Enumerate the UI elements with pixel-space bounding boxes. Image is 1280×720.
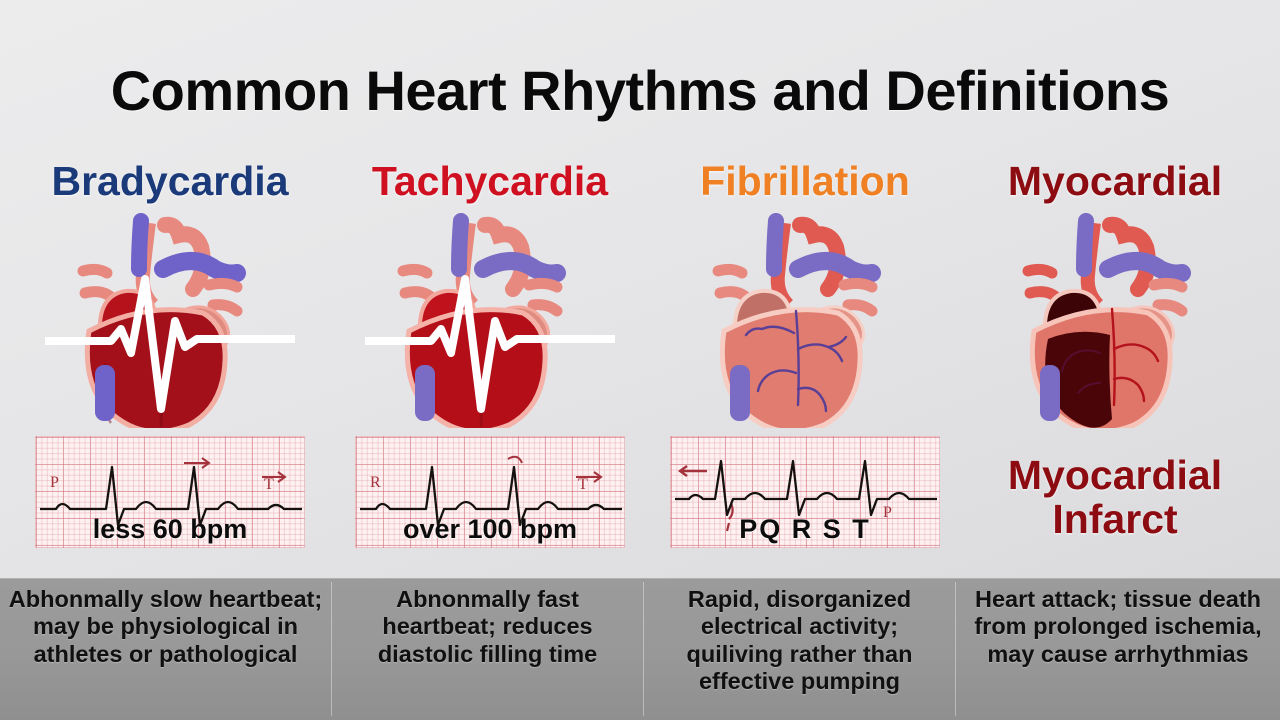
ecg-caption-tachycardia: over 100 bpm: [356, 514, 624, 545]
mi-label-line1: Myocardial: [955, 453, 1275, 497]
column-heading-fibrillation: Fibrillation: [645, 160, 965, 203]
ecg-strip-tachycardia: R T over 100 bpm: [355, 436, 625, 548]
heart-diagram-icon: [45, 213, 295, 428]
ecg-strip-bradycardia: P T less 60 bpm: [35, 436, 305, 548]
column-heading-bradycardia: Bradycardia: [10, 160, 330, 203]
ecg-annotation-r: R: [370, 474, 381, 491]
ecg-caption-bradycardia: less 60 bpm: [36, 514, 304, 545]
ecg-strip-fibrillation: P PQ R S T: [670, 436, 940, 548]
column-bradycardia: Bradycardia: [10, 160, 330, 580]
mi-label-line2: Infarct: [955, 497, 1275, 541]
heart-diagram-icon: [680, 213, 930, 428]
heart-illustration-tachycardia: [330, 213, 650, 431]
heart-illustration-bradycardia: [10, 213, 330, 431]
heart-illustration-myocardial-infarct: [955, 213, 1275, 431]
ecg-caption-fibrillation: PQ R S T: [671, 514, 939, 545]
heart-illustration-fibrillation: [645, 213, 965, 431]
myocardial-infarct-label: Myocardial Infarct: [955, 453, 1275, 542]
column-tachycardia: Tachycardia: [330, 160, 650, 580]
slide-root: Common Heart Rhythms and Definitions Bra…: [0, 0, 1280, 720]
column-fibrillation: Fibrillation: [645, 160, 965, 580]
column-heading-myocardial: Myocardial: [955, 160, 1275, 203]
description-tachycardia: Abnonmally fast heartbeat; reduces diast…: [332, 578, 643, 720]
description-fibrillation: Rapid, disorganized electrical activity;…: [644, 578, 955, 720]
ecg-annotation-t: T: [264, 476, 274, 493]
description-bradycardia: Abhonmally slow heartbeat; may be physio…: [0, 578, 331, 720]
heart-diagram-icon: [365, 213, 615, 428]
heart-diagram-icon: [990, 213, 1240, 428]
description-band: Abhonmally slow heartbeat; may be physio…: [0, 578, 1280, 720]
column-myocardial-infarct: Myocardial: [955, 160, 1275, 580]
ecg-annotation-t: T: [578, 476, 588, 493]
description-myocardial-infarct: Heart attack; tissue death from prolonge…: [956, 578, 1280, 720]
column-heading-tachycardia: Tachycardia: [330, 160, 650, 203]
ecg-annotation-p: P: [50, 474, 59, 491]
page-title: Common Heart Rhythms and Definitions: [0, 58, 1280, 123]
